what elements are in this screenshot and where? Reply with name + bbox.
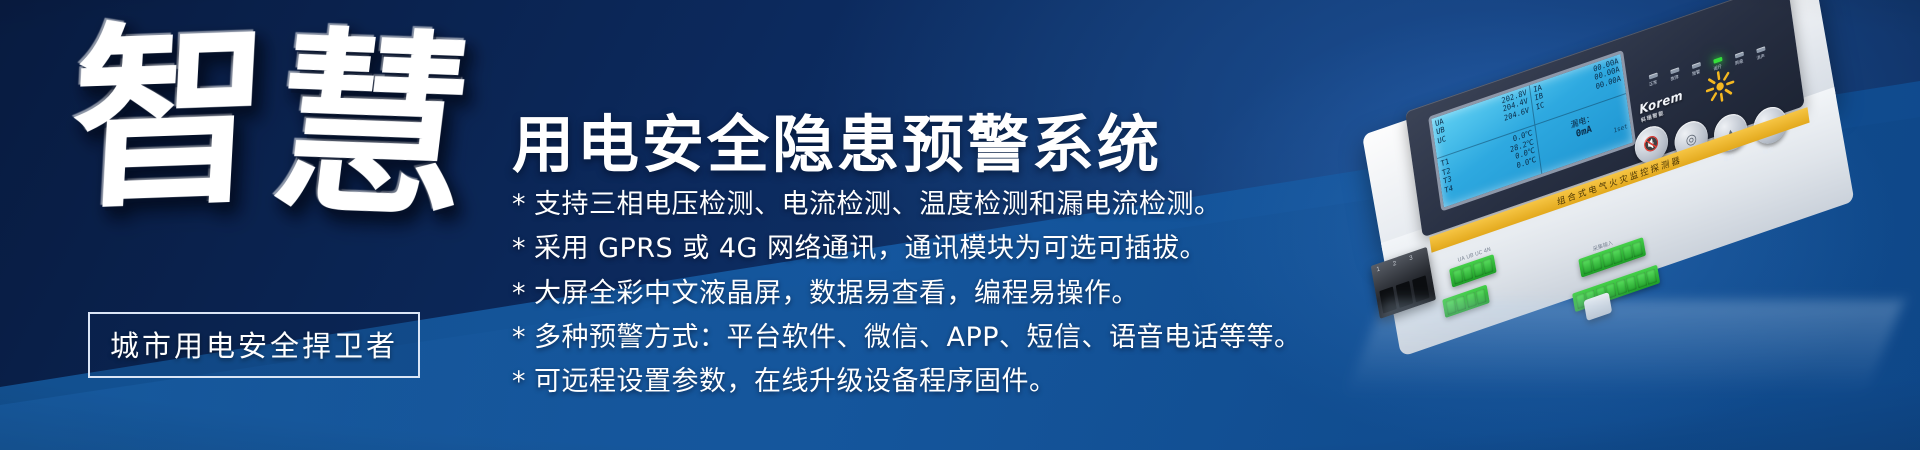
connector-number-3: 3 — [1409, 255, 1413, 262]
lcd-t4-label: T4 — [1444, 184, 1454, 196]
led-fault-label: 故障 — [1670, 74, 1679, 83]
tagline-box: 城市用电安全捍卫者 — [88, 312, 420, 378]
calligraphy-char-1: 智 — [66, 0, 281, 236]
connector-number-1: 1 — [1376, 266, 1380, 273]
bullet-marker-icon: * — [512, 363, 534, 400]
bullet-marker-icon: * — [512, 186, 534, 223]
led-run-label: 运行 — [1713, 63, 1722, 72]
list-item: *采用 GPRS 或 4G 网络通讯，通讯模块为可选可插拔。 — [512, 230, 1392, 267]
bullet-marker-icon: * — [512, 319, 534, 356]
list-item-label: 可远程设置参数，在线升级设备程序固件。 — [534, 366, 1057, 397]
list-item: *支持三相电压检测、电流检测、温度检测和漏电流检测。 — [512, 186, 1392, 223]
bullet-marker-icon: * — [512, 275, 534, 312]
list-item-label: 多种预警方式：平台软件、微信、APP、短信、语音电话等等。 — [534, 322, 1302, 353]
list-item-label: 大屏全彩中文液晶屏，数据易查看，编程易操作。 — [534, 278, 1139, 309]
connector-number-2: 2 — [1393, 261, 1397, 268]
list-item-label: 支持三相电压检测、电流检测、温度检测和漏电流检测。 — [534, 189, 1222, 220]
feature-list: *支持三相电压检测、电流检测、温度检测和漏电流检测。 *采用 GPRS 或 4G… — [512, 186, 1392, 407]
lcd-uc-label: UC — [1437, 135, 1447, 147]
led-normal-label: 正常 — [1649, 79, 1658, 88]
product-photo: UA202.8V UB204.4V UC204.6V IA00.00A IB00… — [1330, 18, 1920, 418]
promo-banner: 智慧 城市用电安全捍卫者 用电安全隐患预警系统 *支持三相电压检测、电流检测、温… — [0, 0, 1920, 450]
led-shield-label: 屏蔽 — [1735, 58, 1744, 67]
calligraphy-char-2: 慧 — [262, 25, 487, 228]
led-mute-label: 消声 — [1756, 53, 1765, 62]
list-item: *大屏全彩中文液晶屏，数据易查看，编程易操作。 — [512, 275, 1392, 312]
device-unit: UA202.8V UB204.4V UC204.6V IA00.00A IB00… — [1350, 0, 1911, 447]
list-item: *多种预警方式：平台软件、微信、APP、短信、语音电话等等。 — [512, 319, 1392, 356]
bullet-marker-icon: * — [512, 230, 534, 267]
page-title: 用电安全隐患预警系统 — [512, 94, 1162, 184]
list-item: *可远程设置参数，在线升级设备程序固件。 — [512, 363, 1392, 400]
led-alarm-label: 报警 — [1692, 69, 1701, 78]
list-item-label: 采用 GPRS 或 4G 网络通讯，通讯模块为可选可插拔。 — [534, 233, 1207, 264]
lcd-ic-label: IC — [1535, 101, 1545, 113]
calligraphy-title: 智慧 — [62, 9, 498, 303]
